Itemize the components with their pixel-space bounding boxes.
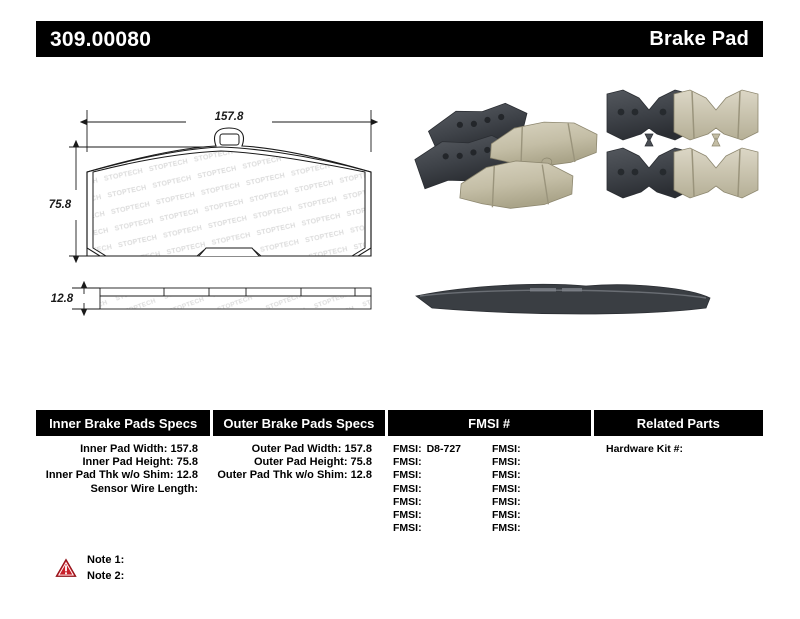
fmsi-value [422, 456, 427, 468]
notes-section: Note 1: Note 2: [55, 552, 124, 584]
technical-drawing: STOPTECH STOPTECH 157.8 [36, 80, 406, 350]
inner-specs-cell: Inner Pad Width: 157.8 Inner Pad Height:… [36, 443, 210, 535]
spec-table-header-row: Inner Brake Pads Specs Outer Brake Pads … [36, 410, 763, 436]
fmsi-value [422, 522, 427, 534]
inner-spec-row: Inner Pad Thk w/o Shim: 12.8 [36, 469, 210, 482]
photo-grid-friction-bottom [674, 138, 758, 198]
fmsi-label: FMSI: [492, 509, 521, 521]
width-dimension-label: 157.8 [215, 111, 244, 123]
part-number: 309.00080 [50, 29, 151, 50]
fmsi-label: FMSI: [492, 522, 521, 534]
column-header-inner-specs: Inner Brake Pads Specs [36, 410, 210, 436]
fmsi-row: FMSI:D8-727 [393, 443, 492, 456]
pad-friction-body [93, 151, 365, 256]
fmsi-value [521, 483, 526, 495]
note-row: Note 1: [87, 552, 124, 568]
height-dimension-label: 75.8 [49, 199, 72, 211]
fmsi-row: FMSI: [393, 456, 492, 469]
fmsi-column-right: FMSI: FMSI: FMSI: FMSI: FMSI: FMSI: FMSI… [492, 443, 591, 535]
fmsi-label: FMSI: [393, 483, 422, 495]
column-header-outer-specs: Outer Brake Pads Specs [213, 410, 384, 436]
fmsi-value [422, 509, 427, 521]
fmsi-value [521, 469, 526, 481]
note-row: Note 2: [87, 568, 124, 584]
fmsi-row: FMSI: [492, 443, 591, 456]
outer-spec-row: Outer Pad Thk w/o Shim: 12.8 [213, 469, 384, 482]
fmsi-row: FMSI: [492, 469, 591, 482]
fmsi-value [521, 456, 526, 468]
spec-table-body: Inner Pad Width: 157.8 Inner Pad Height:… [36, 436, 763, 535]
fmsi-label: FMSI: [492, 456, 521, 468]
fmsi-row: FMSI: [393, 483, 492, 496]
spec-table: Inner Brake Pads Specs Outer Brake Pads … [36, 410, 763, 540]
fmsi-label: FMSI: [492, 443, 521, 455]
fmsi-value [422, 496, 427, 508]
fmsi-label: FMSI: [492, 496, 521, 508]
pad-bottom-notch [199, 248, 259, 256]
fmsi-row: FMSI: [393, 496, 492, 509]
notes-text-block: Note 1: Note 2: [87, 552, 124, 584]
fmsi-row: FMSI: [492, 496, 591, 509]
inner-spec-row: Sensor Wire Length: [36, 483, 210, 496]
fmsi-label: FMSI: [393, 469, 422, 481]
fmsi-label: FMSI: [393, 496, 422, 508]
fmsi-value [422, 469, 427, 481]
fmsi-value [521, 443, 526, 455]
product-photos [410, 80, 765, 350]
related-part-row: Hardware Kit #: [594, 443, 763, 456]
photo-angled-pad-set [413, 101, 599, 211]
fmsi-label: FMSI: [393, 456, 422, 468]
fmsi-value [521, 522, 526, 534]
photo-grid-friction-top [674, 90, 758, 142]
fmsi-column-left: FMSI:D8-727 FMSI: FMSI: FMSI: FMSI: FMSI… [393, 443, 492, 535]
fmsi-row: FMSI: [393, 469, 492, 482]
fmsi-cell: FMSI:D8-727 FMSI: FMSI: FMSI: FMSI: FMSI… [387, 443, 591, 535]
fmsi-value [521, 509, 526, 521]
outer-spec-row: Outer Pad Height: 75.8 [213, 456, 384, 469]
column-header-fmsi: FMSI # [388, 410, 591, 436]
warning-triangle-icon [55, 558, 77, 578]
fmsi-row: FMSI: [393, 509, 492, 522]
inner-spec-row: Inner Pad Height: 75.8 [36, 456, 210, 469]
fmsi-label: FMSI: [393, 443, 422, 455]
dimension-thickness [72, 288, 100, 309]
pad-side-view [100, 288, 371, 309]
fmsi-label: FMSI: [492, 483, 521, 495]
fmsi-row: FMSI: [492, 456, 591, 469]
fmsi-row: FMSI: [492, 522, 591, 535]
fmsi-grid: FMSI:D8-727 FMSI: FMSI: FMSI: FMSI: FMSI… [387, 443, 591, 535]
photo-pad-edge-view [416, 284, 710, 314]
inner-spec-row: Inner Pad Width: 157.8 [36, 443, 210, 456]
fmsi-label: FMSI: [492, 469, 521, 481]
page-title: Brake Pad [649, 29, 749, 49]
fmsi-value [422, 483, 427, 495]
column-header-related-parts: Related Parts [594, 410, 763, 436]
fmsi-label: FMSI: [393, 522, 422, 534]
outer-specs-cell: Outer Pad Width: 157.8 Outer Pad Height:… [213, 443, 384, 535]
pad-tab-slot [220, 134, 239, 145]
fmsi-row: FMSI: [393, 522, 492, 535]
fmsi-value [521, 496, 526, 508]
outer-spec-row: Outer Pad Width: 157.8 [213, 443, 384, 456]
fmsi-label: FMSI: [393, 509, 422, 521]
thickness-dimension-label: 12.8 [51, 293, 74, 305]
fmsi-row: FMSI: [492, 483, 591, 496]
related-parts-cell: Hardware Kit #: [594, 443, 763, 535]
fmsi-value: D8-727 [422, 443, 461, 455]
fmsi-row: FMSI: [492, 509, 591, 522]
page-header-bar: 309.00080 Brake Pad [36, 21, 763, 57]
